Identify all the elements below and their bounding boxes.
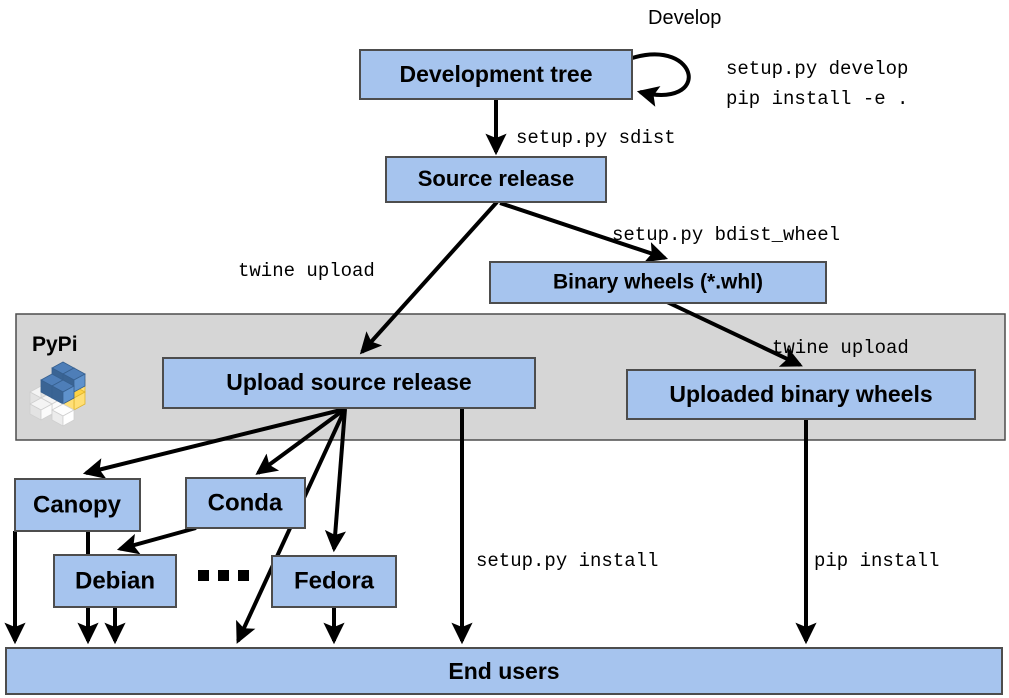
node-fedora[interactable]: Fedora <box>272 556 396 607</box>
diagram-canvas: PyPi <box>0 0 1009 698</box>
development-tree-label: Development tree <box>399 61 592 87</box>
node-upload-source-release[interactable]: Upload source release <box>163 358 535 408</box>
node-source-release[interactable]: Source release <box>386 157 606 202</box>
debian-label: Debian <box>75 567 155 594</box>
label-setup-py-sdist: setup.py sdist <box>516 127 676 149</box>
end-users-label: End users <box>448 658 559 684</box>
label-setup-py-develop: setup.py develop <box>726 58 908 80</box>
packaging-flow-diagram: PyPi <box>0 0 1009 698</box>
ellipsis-dots <box>198 570 249 581</box>
label-develop: Develop <box>648 7 721 29</box>
label-setup-py-install: setup.py install <box>476 550 658 572</box>
label-twine-upload-source: twine upload <box>238 260 375 282</box>
node-binary-wheels[interactable]: Binary wheels (*.whl) <box>490 262 826 303</box>
edge-develop-selfloop <box>632 54 689 94</box>
uploaded-binary-wheels-label: Uploaded binary wheels <box>669 381 932 407</box>
canopy-label: Canopy <box>33 491 122 518</box>
label-setup-py-bdist-wheel: setup.py bdist_wheel <box>612 224 840 246</box>
pypi-group-label: PyPi <box>32 333 78 356</box>
node-development-tree[interactable]: Development tree <box>360 50 632 99</box>
binary-wheels-label: Binary wheels (*.whl) <box>553 271 763 294</box>
upload-source-release-label: Upload source release <box>226 369 471 395</box>
fedora-label: Fedora <box>294 567 375 594</box>
node-end-users[interactable]: End users <box>6 648 1002 694</box>
label-pip-install-e: pip install -e . <box>726 88 908 110</box>
label-pip-install: pip install <box>814 550 939 572</box>
node-debian[interactable]: Debian <box>54 555 176 607</box>
label-twine-upload-wheels: twine upload <box>772 337 909 359</box>
node-uploaded-binary-wheels[interactable]: Uploaded binary wheels <box>627 370 975 419</box>
node-canopy[interactable]: Canopy <box>15 479 140 531</box>
node-conda[interactable]: Conda <box>186 478 305 528</box>
source-release-label: Source release <box>418 166 575 191</box>
conda-label: Conda <box>208 489 283 516</box>
